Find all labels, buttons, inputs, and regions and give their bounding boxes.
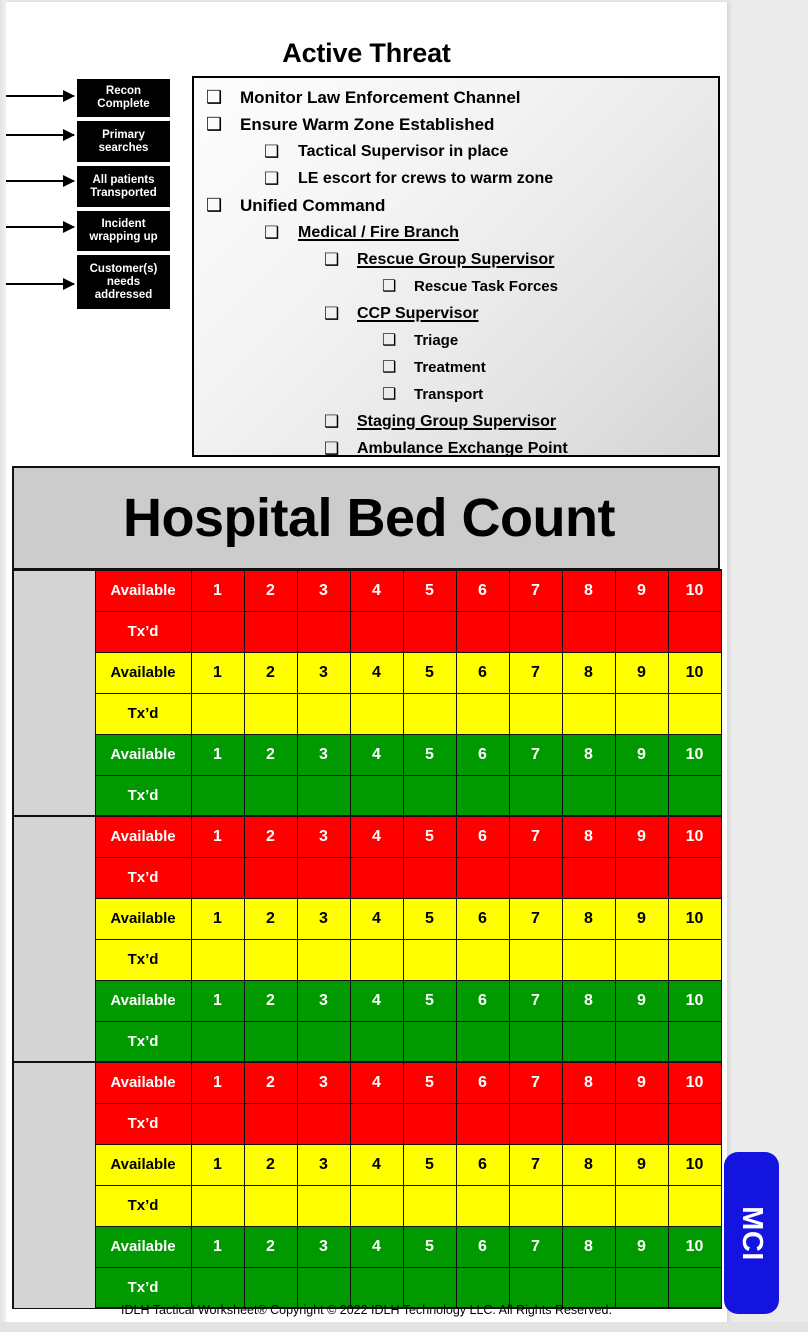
bed-count-cell[interactable]: 7: [509, 734, 562, 775]
bed-count-cell-value: 2: [266, 828, 275, 845]
checklist-item[interactable]: ❑CCP Supervisor: [202, 300, 714, 327]
bed-count-cell[interactable]: [244, 1021, 297, 1062]
bed-count-cell[interactable]: 7: [509, 570, 562, 611]
bed-count-cell[interactable]: 9: [615, 652, 668, 693]
checkbox-icon[interactable]: ❑: [382, 354, 414, 381]
bed-count-cell-value: 6: [478, 746, 487, 763]
bed-count-cell[interactable]: 9: [615, 898, 668, 939]
bed-count-cell[interactable]: 5: [403, 898, 456, 939]
milestone-box[interactable]: Recon Complete: [76, 78, 171, 118]
milestone-box[interactable]: Customer(s) needs addressed: [76, 254, 171, 310]
bed-count-row: Available12345678910: [13, 734, 721, 775]
bed-count-cell[interactable]: [456, 611, 509, 652]
bed-count-cell[interactable]: [562, 1021, 615, 1062]
checkbox-icon[interactable]: ❑: [264, 219, 298, 246]
bed-count-cell[interactable]: [244, 939, 297, 980]
bed-count-cell[interactable]: 10: [668, 652, 721, 693]
checkbox-icon[interactable]: ❑: [382, 327, 414, 354]
bed-count-cell[interactable]: [297, 1021, 350, 1062]
bed-count-cell[interactable]: [191, 1267, 244, 1308]
bed-count-cell[interactable]: 6: [456, 734, 509, 775]
bed-count-row: Tx’d: [13, 857, 721, 898]
bed-count-row: Tx’d: [13, 1267, 721, 1308]
bed-count-cell-value: 4: [372, 1238, 381, 1255]
bed-count-cell[interactable]: 5: [403, 734, 456, 775]
bed-count-row-label-text: Tx’d: [128, 623, 159, 640]
checkbox-icon[interactable]: ❑: [264, 165, 298, 192]
milestone-box-label: Customer(s) needs addressed: [80, 263, 167, 302]
bed-count-cell[interactable]: [615, 1103, 668, 1144]
bed-count-cell-value: 1: [213, 1156, 222, 1173]
bed-count-cell[interactable]: [456, 693, 509, 734]
bed-count-cell[interactable]: [191, 1185, 244, 1226]
bed-count-cell[interactable]: 4: [350, 652, 403, 693]
bed-count-cell[interactable]: [615, 1185, 668, 1226]
bed-count-cell-value: 5: [425, 1074, 434, 1091]
bed-count-cell[interactable]: [615, 1021, 668, 1062]
bed-count-cell-value: 5: [425, 828, 434, 845]
bed-count-cell[interactable]: 7: [509, 1226, 562, 1267]
bed-count-cell-value: 7: [531, 828, 540, 845]
bed-count-cell[interactable]: [668, 1021, 721, 1062]
bed-count-cell[interactable]: 2: [244, 1062, 297, 1103]
checklist-item-label: Ensure Warm Zone Established: [240, 111, 494, 138]
bed-count-cell[interactable]: [297, 693, 350, 734]
bed-count-cell[interactable]: 8: [562, 816, 615, 857]
bed-count-cell[interactable]: [456, 1267, 509, 1308]
bed-count-cell[interactable]: [668, 857, 721, 898]
bed-count-row-label: Available: [95, 1062, 191, 1103]
milestone-box[interactable]: All patients Transported: [76, 165, 171, 208]
bed-count-cell[interactable]: [297, 611, 350, 652]
bed-count-cell[interactable]: [297, 1185, 350, 1226]
bed-count-cell[interactable]: 3: [297, 652, 350, 693]
checklist-item[interactable]: ❑Medical / Fire Branch: [202, 219, 714, 246]
bed-count-cell-value: 1: [213, 746, 222, 763]
bed-count-cell[interactable]: [668, 693, 721, 734]
bed-count-cell-value: 6: [478, 1238, 487, 1255]
bed-count-row-label-text: Available: [110, 910, 175, 927]
bed-count-cell[interactable]: [350, 1021, 403, 1062]
bed-count-row: Tx’d: [13, 611, 721, 652]
bed-count-cell[interactable]: [297, 1267, 350, 1308]
bed-count-cell[interactable]: 2: [244, 980, 297, 1021]
bed-count-row-label: Tx’d: [95, 857, 191, 898]
checkbox-icon[interactable]: ❑: [324, 300, 357, 327]
bed-count-cell[interactable]: [191, 775, 244, 816]
hospital-name-cell[interactable]: [13, 816, 95, 1062]
bed-count-cell[interactable]: 10: [668, 1062, 721, 1103]
checkbox-icon[interactable]: ❑: [206, 111, 240, 138]
bed-count-cell[interactable]: [350, 1103, 403, 1144]
milestone-arrow-1: [6, 95, 74, 97]
bed-count-cell-value: 10: [686, 1074, 704, 1091]
bed-count-cell[interactable]: [191, 611, 244, 652]
bed-count-cell[interactable]: [509, 611, 562, 652]
bed-count-cell[interactable]: 5: [403, 570, 456, 611]
bed-count-cell[interactable]: 1: [191, 570, 244, 611]
bed-count-cell[interactable]: 3: [297, 816, 350, 857]
bed-count-cell[interactable]: 4: [350, 898, 403, 939]
bed-count-cell[interactable]: 2: [244, 734, 297, 775]
bed-count-cell[interactable]: [403, 1185, 456, 1226]
bed-count-cell[interactable]: 10: [668, 1144, 721, 1185]
checklist-item[interactable]: ❑Staging Group Supervisor: [202, 408, 714, 435]
bed-count-cell[interactable]: 10: [668, 898, 721, 939]
bed-count-cell[interactable]: [456, 857, 509, 898]
bed-count-cell[interactable]: [668, 1185, 721, 1226]
bed-count-cell-value: 9: [637, 1156, 646, 1173]
bed-count-cell-value: 10: [686, 746, 704, 763]
bed-count-cell-value: 6: [478, 910, 487, 927]
bed-count-cell-value: 3: [319, 746, 328, 763]
bed-count-row-label-text: Available: [110, 746, 175, 763]
bed-count-row-label-text: Available: [110, 1238, 175, 1255]
bed-count-row-label-text: Tx’d: [128, 705, 159, 722]
bed-count-cell[interactable]: 6: [456, 1062, 509, 1103]
bed-count-cell[interactable]: [509, 1021, 562, 1062]
bed-count-cell[interactable]: 5: [403, 816, 456, 857]
bed-count-cell[interactable]: 1: [191, 734, 244, 775]
bed-count-cell[interactable]: [244, 611, 297, 652]
bed-count-cell[interactable]: 10: [668, 816, 721, 857]
bed-count-cell[interactable]: 7: [509, 1144, 562, 1185]
checklist-item[interactable]: ❑Monitor Law Enforcement Channel: [202, 84, 714, 111]
bed-count-cell[interactable]: [244, 1185, 297, 1226]
bed-count-cell-value: 4: [372, 992, 381, 1009]
bed-count-cell-value: 3: [319, 828, 328, 845]
checklist-item[interactable]: ❑Rescue Task Forces: [202, 273, 714, 300]
bed-count-row-label: Tx’d: [95, 1185, 191, 1226]
bed-count-cell[interactable]: [403, 1103, 456, 1144]
milestone-box[interactable]: Incident wrapping up: [76, 210, 171, 252]
checklist-item[interactable]: ❑Rescue Group Supervisor: [202, 246, 714, 273]
checklist-item[interactable]: ❑Transport: [202, 381, 714, 408]
bed-count-cell-value: 1: [213, 910, 222, 927]
bed-count-cell[interactable]: [456, 1185, 509, 1226]
hospital-name-cell[interactable]: [13, 570, 95, 816]
bed-count-cell[interactable]: [509, 1185, 562, 1226]
bed-count-cell[interactable]: 2: [244, 816, 297, 857]
bed-count-cell[interactable]: [509, 775, 562, 816]
bed-count-cell[interactable]: 7: [509, 652, 562, 693]
checkbox-icon[interactable]: ❑: [382, 381, 414, 408]
bed-count-cell-value: 6: [478, 1156, 487, 1173]
bed-count-cell[interactable]: 3: [297, 1226, 350, 1267]
bed-count-cell[interactable]: 9: [615, 816, 668, 857]
bed-count-cell[interactable]: [562, 611, 615, 652]
bed-count-cell[interactable]: 9: [615, 1144, 668, 1185]
bed-count-cell[interactable]: 4: [350, 1062, 403, 1103]
checkbox-icon[interactable]: ❑: [324, 435, 357, 462]
bed-count-cell[interactable]: 2: [244, 898, 297, 939]
bed-count-cell[interactable]: 7: [509, 980, 562, 1021]
bed-count-cell[interactable]: 1: [191, 1226, 244, 1267]
bed-count-cell[interactable]: 9: [615, 1062, 668, 1103]
bed-count-cell[interactable]: [350, 939, 403, 980]
bed-count-cell-value: 3: [319, 1238, 328, 1255]
bed-count-cell[interactable]: [403, 693, 456, 734]
bed-count-row-label-text: Tx’d: [128, 869, 159, 886]
bed-count-cell-value: 10: [686, 992, 704, 1009]
bed-count-cell[interactable]: [668, 939, 721, 980]
bed-count-cell[interactable]: [456, 775, 509, 816]
bed-count-cell[interactable]: 5: [403, 1226, 456, 1267]
bed-count-cell[interactable]: [615, 1267, 668, 1308]
bed-count-cell[interactable]: 8: [562, 1144, 615, 1185]
bed-count-row: Available12345678910: [13, 652, 721, 693]
hospital-bed-count-grid: Available12345678910Tx’dAvailable1234567…: [12, 569, 722, 1309]
bed-count-cell[interactable]: 4: [350, 1144, 403, 1185]
bed-count-cell[interactable]: [244, 693, 297, 734]
bed-count-cell-value: 2: [266, 582, 275, 599]
checklist-item-label: LE escort for crews to warm zone: [298, 165, 553, 192]
bed-count-cell[interactable]: 3: [297, 1144, 350, 1185]
bed-count-row-label: Available: [95, 1144, 191, 1185]
bed-count-cell[interactable]: 5: [403, 1144, 456, 1185]
bed-count-cell[interactable]: 8: [562, 1226, 615, 1267]
bed-count-cell[interactable]: 4: [350, 570, 403, 611]
bed-count-cell-value: 8: [584, 582, 593, 599]
bed-count-cell-value: 9: [637, 664, 646, 681]
bed-count-cell[interactable]: 2: [244, 652, 297, 693]
bed-count-row-label: Available: [95, 980, 191, 1021]
bed-count-cell[interactable]: [297, 775, 350, 816]
bed-count-cell[interactable]: 5: [403, 1062, 456, 1103]
bed-count-cell[interactable]: 1: [191, 980, 244, 1021]
bed-count-cell[interactable]: 9: [615, 1226, 668, 1267]
bed-count-cell[interactable]: [403, 857, 456, 898]
bed-count-cell[interactable]: [509, 1267, 562, 1308]
bed-count-cell[interactable]: 10: [668, 1226, 721, 1267]
bed-count-cell[interactable]: 3: [297, 980, 350, 1021]
bed-count-cell[interactable]: 2: [244, 570, 297, 611]
bed-count-cell[interactable]: [350, 775, 403, 816]
checkbox-icon[interactable]: ❑: [382, 273, 414, 300]
bed-count-cell[interactable]: [403, 1021, 456, 1062]
bed-count-cell[interactable]: 3: [297, 734, 350, 775]
bed-count-cell[interactable]: 1: [191, 816, 244, 857]
bed-count-cell[interactable]: 9: [615, 980, 668, 1021]
bed-count-cell[interactable]: 4: [350, 734, 403, 775]
bed-count-cell[interactable]: [615, 857, 668, 898]
bed-count-cell[interactable]: [350, 693, 403, 734]
worksheet-page: Active Threat Recon CompletePrimary sear…: [0, 0, 808, 1332]
bed-count-cell[interactable]: 6: [456, 980, 509, 1021]
bed-count-cell[interactable]: [403, 775, 456, 816]
milestone-box-label: Primary searches: [80, 129, 167, 155]
bed-count-cell[interactable]: 3: [297, 1062, 350, 1103]
bed-count-cell-value: 5: [425, 1156, 434, 1173]
bed-count-cell[interactable]: [509, 939, 562, 980]
bed-count-cell-value: 4: [372, 664, 381, 681]
bed-count-cell[interactable]: [244, 1103, 297, 1144]
bed-count-cell-value: 4: [372, 910, 381, 927]
bed-count-row-label-text: Tx’d: [128, 1279, 159, 1296]
bed-count-cell[interactable]: [297, 857, 350, 898]
bed-count-cell[interactable]: [668, 775, 721, 816]
bed-count-cell-value: 9: [637, 1074, 646, 1091]
bed-count-cell[interactable]: 10: [668, 570, 721, 611]
bed-count-cell-value: 10: [686, 910, 704, 927]
mci-side-tab[interactable]: MCI: [724, 1152, 779, 1314]
bed-count-cell[interactable]: 5: [403, 980, 456, 1021]
bed-count-cell[interactable]: 3: [297, 570, 350, 611]
bed-count-cell[interactable]: [562, 1267, 615, 1308]
bed-count-cell[interactable]: 6: [456, 1144, 509, 1185]
bed-count-cell-value: 7: [531, 910, 540, 927]
bed-count-cell[interactable]: [244, 1267, 297, 1308]
bed-count-cell[interactable]: [456, 939, 509, 980]
bed-count-cell[interactable]: [615, 939, 668, 980]
bed-count-cell[interactable]: 6: [456, 570, 509, 611]
bed-count-cell[interactable]: [297, 1103, 350, 1144]
checkbox-icon[interactable]: ❑: [206, 84, 240, 111]
bed-count-cell[interactable]: [191, 1021, 244, 1062]
bed-count-cell[interactable]: [668, 611, 721, 652]
bed-count-cell[interactable]: 1: [191, 1144, 244, 1185]
bed-count-row-label-text: Tx’d: [128, 1197, 159, 1214]
bed-count-cell[interactable]: 4: [350, 816, 403, 857]
bed-count-cell[interactable]: [509, 1103, 562, 1144]
bed-count-cell[interactable]: 7: [509, 816, 562, 857]
bed-count-cell[interactable]: [191, 693, 244, 734]
bed-count-cell[interactable]: 6: [456, 816, 509, 857]
bed-count-cell[interactable]: [350, 1185, 403, 1226]
checklist-item[interactable]: ❑LE escort for crews to warm zone: [202, 165, 714, 192]
bed-count-cell[interactable]: 9: [615, 734, 668, 775]
bed-count-row-label: Available: [95, 898, 191, 939]
bed-count-cell[interactable]: [244, 857, 297, 898]
bed-count-cell-value: 10: [686, 664, 704, 681]
bed-count-cell[interactable]: [562, 775, 615, 816]
bed-count-cell[interactable]: [668, 1103, 721, 1144]
checklist-item[interactable]: ❑Ensure Warm Zone Established: [202, 111, 714, 138]
checkbox-icon[interactable]: ❑: [206, 192, 240, 219]
checklist-item-label: Rescue Task Forces: [414, 273, 558, 300]
bed-count-cell[interactable]: [403, 611, 456, 652]
checklist-item-label: Triage: [414, 327, 458, 354]
bed-count-cell[interactable]: [456, 1021, 509, 1062]
bed-count-row-label: Available: [95, 734, 191, 775]
checklist-item[interactable]: ❑Ambulance Exchange Point: [202, 435, 714, 462]
bed-count-cell[interactable]: 6: [456, 652, 509, 693]
bed-count-cell[interactable]: [562, 1185, 615, 1226]
bed-count-cell-value: 8: [584, 1238, 593, 1255]
bed-count-cell[interactable]: [562, 857, 615, 898]
bed-count-cell[interactable]: 8: [562, 652, 615, 693]
bed-count-cell[interactable]: [562, 939, 615, 980]
bed-count-cell[interactable]: [350, 611, 403, 652]
page-title: Active Threat: [6, 38, 727, 69]
bed-count-cell[interactable]: [509, 693, 562, 734]
bed-count-cell[interactable]: 3: [297, 898, 350, 939]
checklist-item[interactable]: ❑Tactical Supervisor in place: [202, 138, 714, 165]
bed-count-cell[interactable]: [456, 1103, 509, 1144]
bed-count-cell[interactable]: 8: [562, 1062, 615, 1103]
checkbox-icon[interactable]: ❑: [324, 408, 357, 435]
bed-count-row: Available12345678910: [13, 1062, 721, 1103]
bed-count-cell-value: 4: [372, 582, 381, 599]
bed-count-cell[interactable]: [509, 857, 562, 898]
checkbox-icon[interactable]: ❑: [264, 138, 298, 165]
bed-count-cell[interactable]: 1: [191, 652, 244, 693]
bed-count-cell-value: 3: [319, 992, 328, 1009]
bed-count-cell[interactable]: [562, 693, 615, 734]
milestone-arrow-2: [6, 134, 74, 136]
bed-count-cell[interactable]: [403, 939, 456, 980]
bed-count-cell[interactable]: [615, 775, 668, 816]
bed-count-cell[interactable]: 7: [509, 1062, 562, 1103]
bed-count-row: Available12345678910: [13, 570, 721, 611]
milestone-box[interactable]: Primary searches: [76, 120, 171, 163]
checklist-item-label: Tactical Supervisor in place: [298, 138, 508, 165]
checklist-item-label: Monitor Law Enforcement Channel: [240, 84, 521, 111]
bed-count-cell[interactable]: 10: [668, 734, 721, 775]
bed-count-cell[interactable]: [244, 775, 297, 816]
bed-count-cell-value: 7: [531, 992, 540, 1009]
bed-count-cell[interactable]: 8: [562, 570, 615, 611]
bed-count-cell-value: 5: [425, 992, 434, 1009]
bed-count-cell-value: 9: [637, 828, 646, 845]
bed-count-cell[interactable]: [668, 1267, 721, 1308]
bed-count-cell[interactable]: 8: [562, 980, 615, 1021]
bed-count-cell-value: 10: [686, 582, 704, 599]
milestone-box-label: Incident wrapping up: [80, 218, 167, 244]
checkbox-icon[interactable]: ❑: [324, 246, 357, 273]
bed-count-cell-value: 9: [637, 1238, 646, 1255]
bed-count-row: Tx’d: [13, 939, 721, 980]
bed-count-cell[interactable]: 2: [244, 1144, 297, 1185]
bed-count-cell[interactable]: 2: [244, 1226, 297, 1267]
bed-count-cell[interactable]: [350, 857, 403, 898]
bed-count-cell[interactable]: [350, 1267, 403, 1308]
bed-count-cell[interactable]: [615, 693, 668, 734]
bed-count-cell[interactable]: 9: [615, 570, 668, 611]
bed-count-cell[interactable]: 5: [403, 652, 456, 693]
bed-count-cell[interactable]: 8: [562, 898, 615, 939]
bed-count-cell-value: 1: [213, 828, 222, 845]
bed-count-cell[interactable]: [297, 939, 350, 980]
hospital-name-cell[interactable]: [13, 1062, 95, 1308]
bed-count-cell[interactable]: 4: [350, 1226, 403, 1267]
bed-count-row-label: Tx’d: [95, 775, 191, 816]
bed-count-cell[interactable]: 10: [668, 980, 721, 1021]
bed-count-row: Available12345678910: [13, 1144, 721, 1185]
bed-count-row-label: Available: [95, 1226, 191, 1267]
checklist-item-label: Treatment: [414, 354, 486, 381]
checklist-item[interactable]: ❑Triage: [202, 327, 714, 354]
checklist-item[interactable]: ❑Unified Command: [202, 192, 714, 219]
checklist-item[interactable]: ❑Treatment: [202, 354, 714, 381]
bed-count-cell[interactable]: [403, 1267, 456, 1308]
bed-count-cell[interactable]: 7: [509, 898, 562, 939]
bed-count-cell[interactable]: 6: [456, 1226, 509, 1267]
bed-count-cell[interactable]: 4: [350, 980, 403, 1021]
bed-count-cell[interactable]: [562, 1103, 615, 1144]
bed-count-cell[interactable]: [615, 611, 668, 652]
bed-count-cell[interactable]: [191, 857, 244, 898]
bed-count-cell[interactable]: [191, 1103, 244, 1144]
bed-count-cell-value: 6: [478, 1074, 487, 1091]
bed-count-cell[interactable]: 1: [191, 898, 244, 939]
milestone-arrow-5: [6, 283, 74, 285]
checklist-item-label: Rescue Group Supervisor: [357, 246, 554, 273]
bed-count-cell[interactable]: 8: [562, 734, 615, 775]
bed-count-cell[interactable]: 6: [456, 898, 509, 939]
bed-count-cell[interactable]: [191, 939, 244, 980]
bed-count-cell[interactable]: 1: [191, 1062, 244, 1103]
